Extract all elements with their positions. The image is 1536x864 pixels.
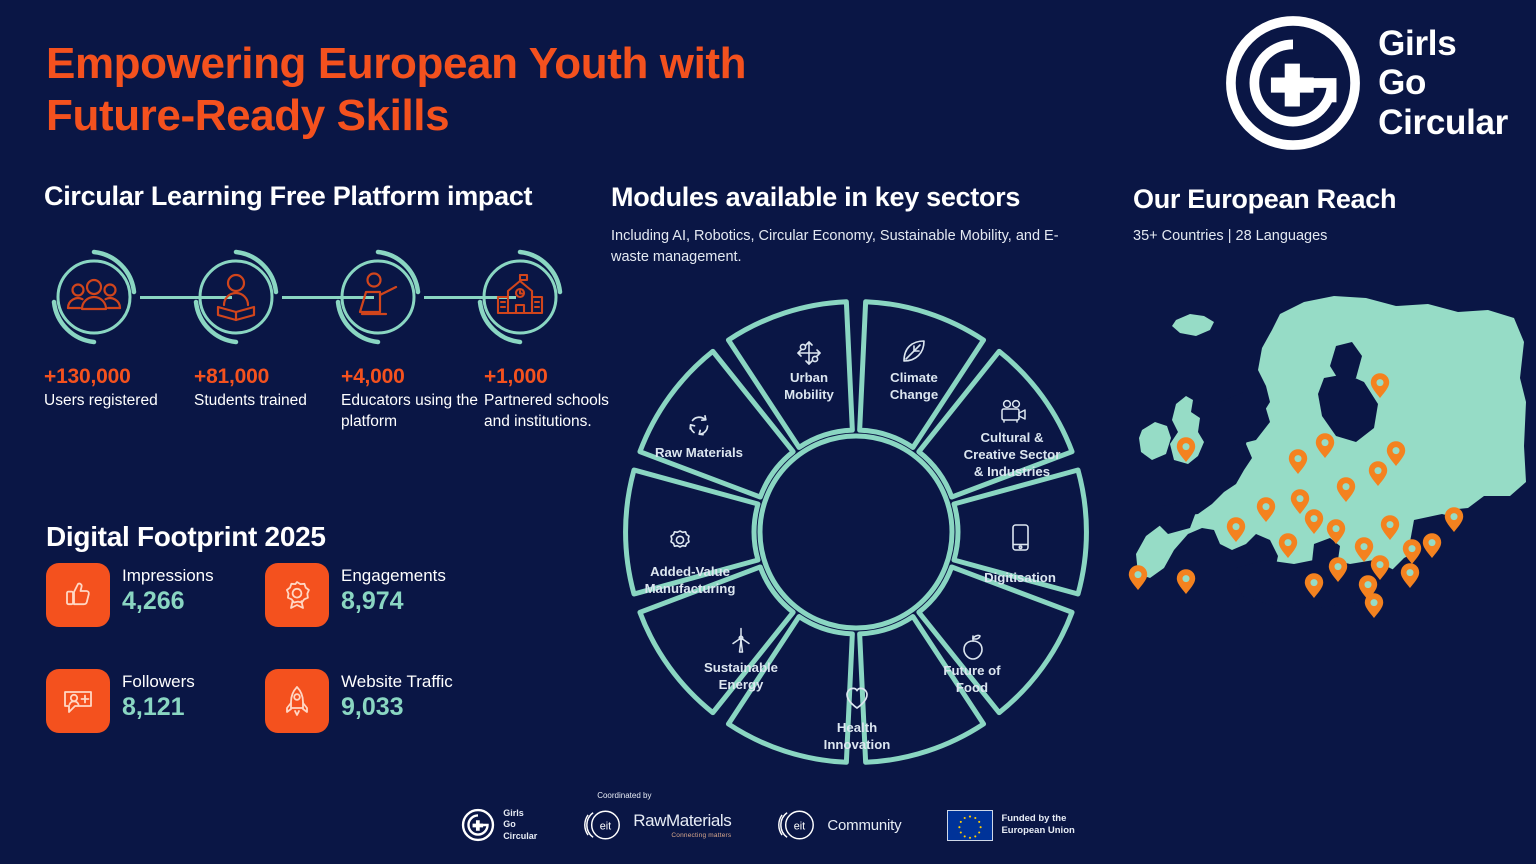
footer-rawmaterials-tagline: Connecting matters [633, 832, 731, 839]
wheel-label-avm-1: Added-Value [650, 564, 730, 579]
footprint-item-engagements: Engagements 8,974 [265, 563, 446, 627]
reach-section-title: Our European Reach [1133, 184, 1396, 215]
footer-ggc-wordmark: Girls Go Circular [503, 808, 537, 843]
student-reading-icon [218, 275, 254, 320]
wheel-label-health-1: Health [837, 720, 877, 735]
brand-wordmark: Girls Go Circular [1378, 24, 1508, 143]
wheel-label-avm-2: Manufacturing [645, 581, 736, 596]
svg-text:eit: eit [600, 820, 611, 832]
wheel-label-sustainable-energy-2: Energy [719, 677, 764, 692]
smartphone-icon [1013, 525, 1028, 550]
coordinated-by-label: Coordinated by [597, 791, 651, 800]
footprint-value: 8,121 [122, 693, 195, 722]
footer-community-name: Community [827, 817, 901, 834]
footer-eu-text: Funded by the European Union [1001, 813, 1074, 838]
brand-word-1: Girls [1378, 24, 1508, 64]
award-badge-icon-tile [265, 563, 329, 627]
rocket-icon [280, 684, 314, 718]
award-badge-icon [280, 578, 314, 612]
girls-go-circular-mark-icon [461, 808, 495, 842]
school-building-icon [498, 275, 542, 313]
modules-section-title: Modules available in key sectors [611, 182, 1020, 213]
wheel-label-urban-mobility: Urban [790, 370, 828, 385]
wheel-label-cultural-2: Creative Sector [964, 447, 1061, 462]
impact-section-title: Circular Learning Free Platform impact [44, 181, 532, 212]
gear-icon [671, 531, 689, 547]
apple-icon [964, 635, 982, 659]
footprint-meta: Followers 8,121 [122, 669, 195, 722]
stat-value: +130,000 [44, 365, 184, 389]
footer-logo-girls-go-circular: Girls Go Circular [461, 808, 537, 843]
wheel-label-cultural-1: Cultural & [980, 430, 1043, 445]
wheel-label-digitisation: Digitisation [984, 570, 1056, 585]
stat-circle-schools [470, 247, 570, 347]
stat-circle-educators [328, 247, 428, 347]
brand-word-3: Circular [1378, 103, 1508, 143]
eit-logo-icon: eit [583, 808, 625, 842]
wheel-segment-future-of-food [899, 539, 1079, 717]
footer-ggc-2: Go [503, 819, 537, 831]
page-title: Empowering European Youth with Future-Re… [46, 38, 946, 142]
footprint-meta: Website Traffic 9,033 [341, 669, 453, 722]
add-follower-icon [61, 684, 95, 718]
footer-rawmaterials-text: RawMaterials Connecting matters [633, 811, 731, 839]
add-follower-icon-tile [46, 669, 110, 733]
footprint-section-title: Digital Footprint 2025 [46, 521, 326, 553]
footprint-label: Engagements [341, 565, 446, 586]
wheel-label-sustainable-energy-1: Sustainable [704, 660, 778, 675]
footprint-meta: Impressions 4,266 [122, 563, 214, 616]
footprint-label: Website Traffic [341, 671, 453, 692]
footer-logo-funded-by-eu: Funded by the European Union [947, 810, 1074, 841]
headline-line-2: Future-Ready Skills [46, 90, 946, 142]
wheel-segment-blank [633, 346, 813, 524]
footer-eu-line-1: Funded by the [1001, 813, 1074, 825]
recycle-icon [690, 416, 707, 435]
road-junction-icon [798, 342, 820, 364]
stat-circle-students [186, 247, 286, 347]
footprint-item-followers: Followers 8,121 [46, 669, 195, 733]
film-camera-icon [1002, 401, 1025, 422]
footprint-label: Followers [122, 671, 195, 692]
wheel-label-climate-change: Climate [890, 370, 938, 385]
europe-map [1128, 282, 1528, 632]
brand-word-2: Go [1378, 63, 1508, 103]
footer-logo-eit-community: eit Community [777, 808, 901, 842]
footprint-meta: Engagements 8,974 [341, 563, 446, 616]
footer-ggc-1: Girls [503, 808, 537, 820]
modules-subtitle: Including AI, Robotics, Circular Economy… [611, 226, 1063, 269]
wheel-label-urban-mobility-2: Mobility [784, 387, 834, 402]
stat-text-students: +81,000 Students trained [194, 365, 334, 412]
footer-eu-line-2: European Union [1001, 825, 1074, 837]
stat-circle-users [44, 247, 144, 347]
footprint-item-website-traffic: Website Traffic 9,033 [265, 669, 453, 733]
footprint-label: Impressions [122, 565, 214, 586]
wheel-label-cultural-3: & Industries [974, 464, 1050, 479]
footer-ggc-3: Circular [503, 831, 537, 843]
wheel-label-climate-change-2: Change [890, 387, 938, 402]
infographic-page: Empowering European Youth with Future-Re… [0, 0, 1536, 864]
brand-logo: Girls Go Circular [1224, 14, 1508, 152]
footer-rawmaterials-name: RawMaterials [633, 811, 731, 831]
rocket-icon-tile [265, 669, 329, 733]
stat-label: Students trained [194, 391, 334, 412]
wheel-hub [760, 436, 952, 628]
eu-flag-icon [947, 810, 993, 841]
svg-text:eit: eit [794, 820, 805, 832]
wheel-label-health-2: Innovation [824, 737, 891, 752]
modules-wheel-diagram: Urban Mobility Climate Change [602, 282, 1110, 782]
teacher-pointer-icon [360, 274, 396, 315]
stat-text-users: +130,000 Users registered [44, 365, 184, 412]
group-users-icon [68, 280, 120, 309]
wheel-label-raw-materials: Raw Materials [655, 445, 743, 460]
impact-stat-texts: +130,000 Users registered +81,000 Studen… [44, 365, 614, 475]
stat-label: Educators using the platform [341, 391, 481, 432]
stat-value: +4,000 [341, 365, 481, 389]
footprint-value: 8,974 [341, 587, 446, 616]
footprint-item-impressions: Impressions 4,266 [46, 563, 214, 627]
reach-subtitle: 35+ Countries | 28 Languages [1133, 228, 1327, 244]
footprint-value: 4,266 [122, 587, 214, 616]
thumbs-up-icon [61, 578, 95, 612]
girls-go-circular-mark-icon [1224, 14, 1362, 152]
stat-label: Users registered [44, 391, 184, 412]
wind-turbine-icon [733, 629, 749, 653]
footer-logo-eit-rawmaterials: Coordinated by eit RawMaterials Connecti… [583, 808, 731, 842]
headline-line-1: Empowering European Youth with [46, 38, 946, 90]
wheel-label-future-of-food-1: Future of [943, 663, 1001, 678]
stat-value: +81,000 [194, 365, 334, 389]
footer-logo-bar: Girls Go Circular Coordinated by eit Raw… [0, 794, 1536, 856]
leaf-icon [904, 341, 924, 361]
stat-text-educators: +4,000 Educators using the platform [341, 365, 481, 432]
wheel-label-future-of-food-2: Food [956, 680, 988, 695]
thumbs-up-icon-tile [46, 563, 110, 627]
impact-stat-circles [44, 247, 604, 347]
eit-logo-icon: eit [777, 808, 819, 842]
footprint-value: 9,033 [341, 693, 453, 722]
